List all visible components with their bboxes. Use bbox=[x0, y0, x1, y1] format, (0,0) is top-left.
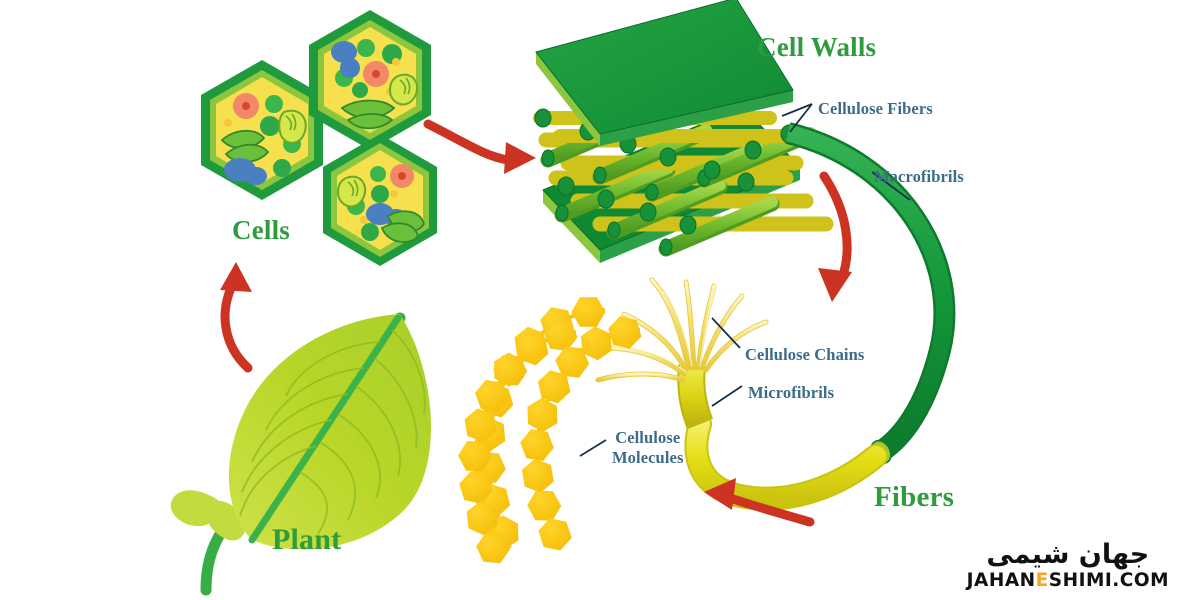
cellulose-molecule-hexagon bbox=[538, 370, 571, 403]
cellulose-molecule-hexagon bbox=[538, 518, 571, 550]
watermark-latin-after: SHIMI.COM bbox=[1049, 570, 1169, 591]
stage-label-cell-walls: Cell Walls bbox=[757, 32, 876, 63]
watermark-latin-before: JAHAN bbox=[967, 570, 1036, 591]
cellulose-molecule-hexagon bbox=[520, 429, 554, 461]
stage-label-cells: Cells bbox=[232, 215, 290, 246]
watermark-latin-e: E bbox=[1036, 570, 1049, 591]
cellulose-molecule-hexagon bbox=[527, 491, 561, 521]
part-label-cellulose-fibers: Cellulose Fibers bbox=[818, 99, 933, 119]
watermark-latin-text: JAHANESHIMI.COM bbox=[967, 570, 1169, 592]
watermark-logo: جهان شیمی JAHANESHIMI.COM bbox=[967, 540, 1169, 592]
watermark-farsi-text: جهان شیمی bbox=[967, 540, 1169, 570]
diagram-canvas: Cells Cell Walls Plant Fibers Cellulose … bbox=[0, 0, 1183, 600]
part-label-cellulose-chains: Cellulose Chains bbox=[745, 345, 864, 365]
part-label-macrofibrils: Macrofibrils bbox=[874, 167, 964, 187]
arrow-leaf-to-cells bbox=[220, 262, 252, 368]
part-label-microfibrils: Microfibrils bbox=[748, 383, 834, 403]
cellulose-molecule-hexagon bbox=[527, 398, 557, 432]
stage-label-fibers: Fibers bbox=[874, 481, 954, 514]
cellulose-molecule-hexagon bbox=[522, 459, 554, 493]
arrow-cells-to-cell-walls bbox=[428, 124, 536, 174]
cellulose-molecule-hexagon bbox=[571, 297, 605, 327]
leader-microfibrils bbox=[712, 386, 742, 406]
diagram-artwork bbox=[0, 0, 1183, 600]
cellulose-molecule-hexagon bbox=[608, 316, 641, 349]
part-label-cellulose-molecules: Cellulose Molecules bbox=[612, 428, 683, 468]
cellulose-molecule-hexagon bbox=[581, 326, 612, 360]
leader-cellulose-molecules bbox=[580, 440, 606, 456]
stage-label-plant: Plant bbox=[272, 523, 341, 557]
arrow-cellwalls-to-fibers bbox=[818, 176, 852, 302]
